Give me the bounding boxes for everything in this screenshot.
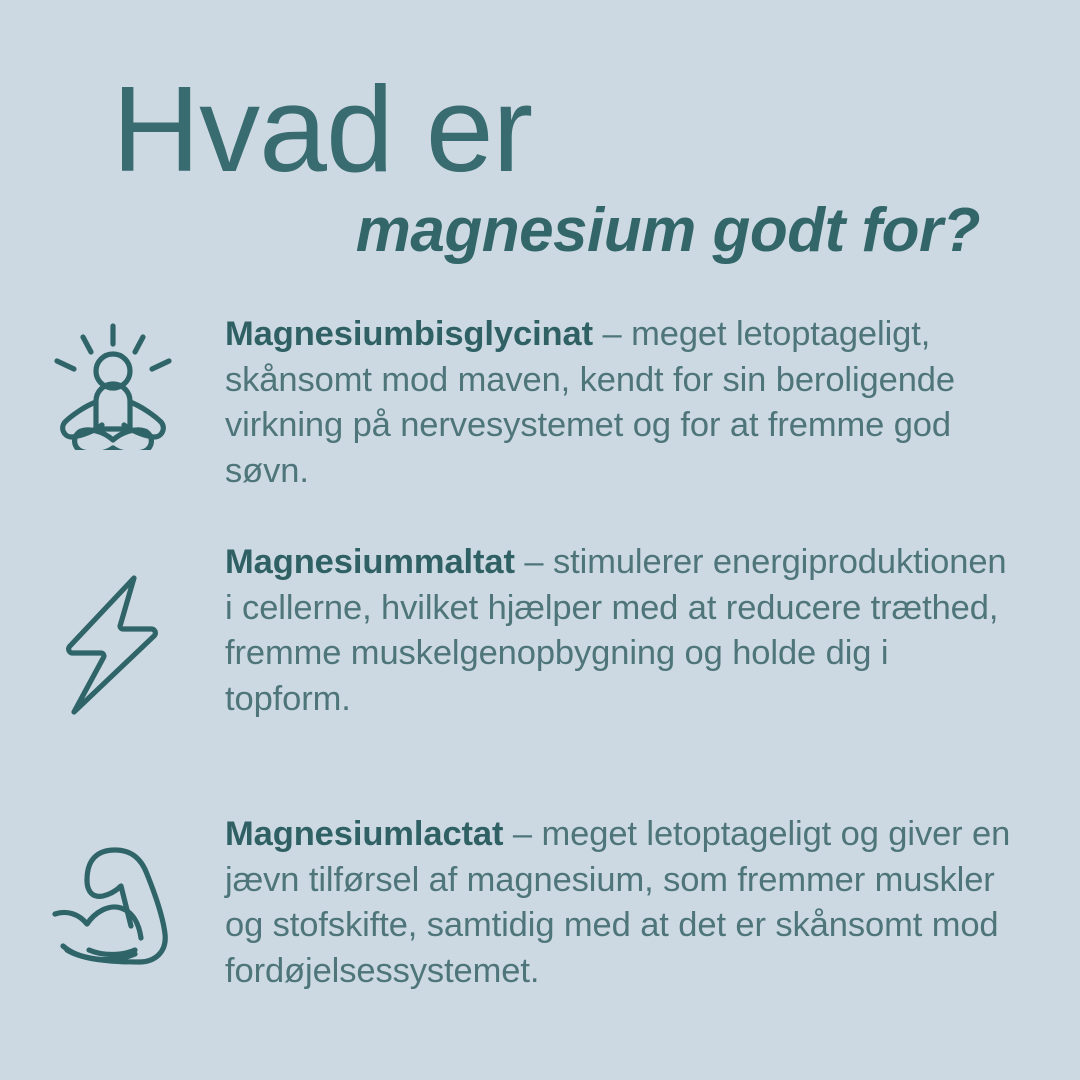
benefit-item-bisglycinat: Magnesiumbisglycinat – meget letoptageli… [0, 312, 1080, 494]
page-title: Hvad er [112, 68, 532, 190]
flexed-bicep-icon [45, 842, 181, 968]
page-subtitle: magnesium godt for? [356, 200, 980, 262]
benefit-item-lactat: Magnesiumlactat – meget letoptageligt og… [0, 812, 1080, 994]
meditation-lotus-icon [47, 318, 179, 450]
benefit-paragraph: Magnesiummaltat – stimulerer energiprodu… [225, 540, 1022, 722]
text-cell: Magnesiumlactat – meget letoptageligt og… [225, 812, 1080, 994]
benefit-separator: – [513, 815, 532, 853]
benefit-separator: – [524, 543, 543, 581]
benefit-separator: – [603, 315, 622, 353]
benefit-name: Magnesiummaltat [225, 543, 515, 581]
benefit-paragraph: Magnesiumlactat – meget letoptageligt og… [225, 812, 1022, 994]
icon-cell [0, 312, 225, 450]
benefit-item-maltat: Magnesiummaltat – stimulerer energiprodu… [0, 540, 1080, 722]
icon-cell [0, 540, 225, 720]
header-block: Hvad er magnesium godt for? [0, 0, 1080, 300]
text-cell: Magnesiumbisglycinat – meget letoptageli… [225, 312, 1080, 494]
benefit-name: Magnesiumlactat [225, 815, 503, 853]
benefit-name: Magnesiumbisglycinat [225, 315, 593, 353]
lightning-bolt-icon [54, 570, 172, 720]
text-cell: Magnesiummaltat – stimulerer energiprodu… [225, 540, 1080, 722]
icon-cell [0, 812, 225, 968]
poster-canvas: Hvad er magnesium godt for? [0, 0, 1080, 1080]
benefit-paragraph: Magnesiumbisglycinat – meget letoptageli… [225, 312, 1022, 494]
